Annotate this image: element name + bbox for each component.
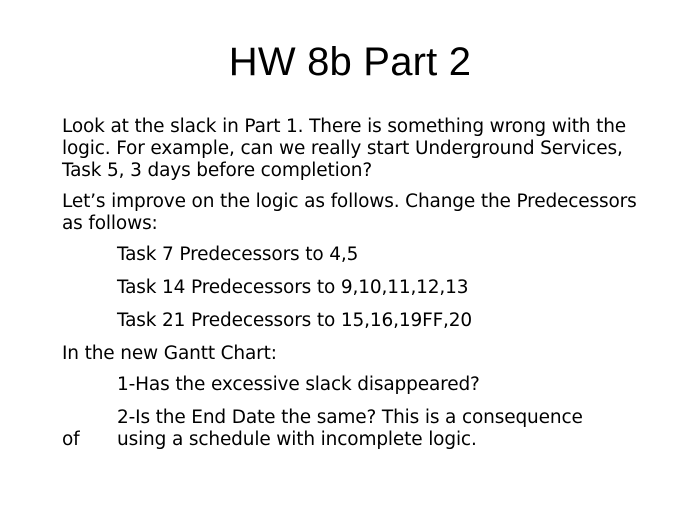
- question-item-2-line-1: 2-Is the End Date the same? This is a co…: [117, 407, 583, 428]
- question-item-2-line-2: using a schedule with incomplete logic.: [117, 429, 477, 450]
- paragraph-instruction: Let’s improve on the logic as follows. C…: [62, 191, 658, 235]
- paragraph-intro: Look at the slack in Part 1. There is so…: [62, 116, 658, 182]
- page-title: HW 8b Part 2: [0, 38, 700, 86]
- slide-canvas: HW 8b Part 2 Look at the slack in Part 1…: [0, 0, 700, 525]
- slide-body: Look at the slack in Part 1. There is so…: [62, 116, 658, 451]
- question-item-2: of 2-Is the End Date the same? This is a…: [117, 407, 658, 451]
- predecessor-item-task-7: Task 7 Predecessors to 4,5: [117, 244, 658, 266]
- predecessor-item-task-14: Task 14 Predecessors to 9,10,11,12,13: [117, 277, 658, 299]
- paragraph-gantt-heading: In the new Gantt Chart:: [62, 343, 658, 365]
- question-item-1: 1-Has the excessive slack disappeared?: [117, 374, 658, 396]
- predecessor-item-task-21: Task 21 Predecessors to 15,16,19FF,20: [117, 310, 658, 332]
- question-item-2-orphan-word: of: [62, 429, 80, 451]
